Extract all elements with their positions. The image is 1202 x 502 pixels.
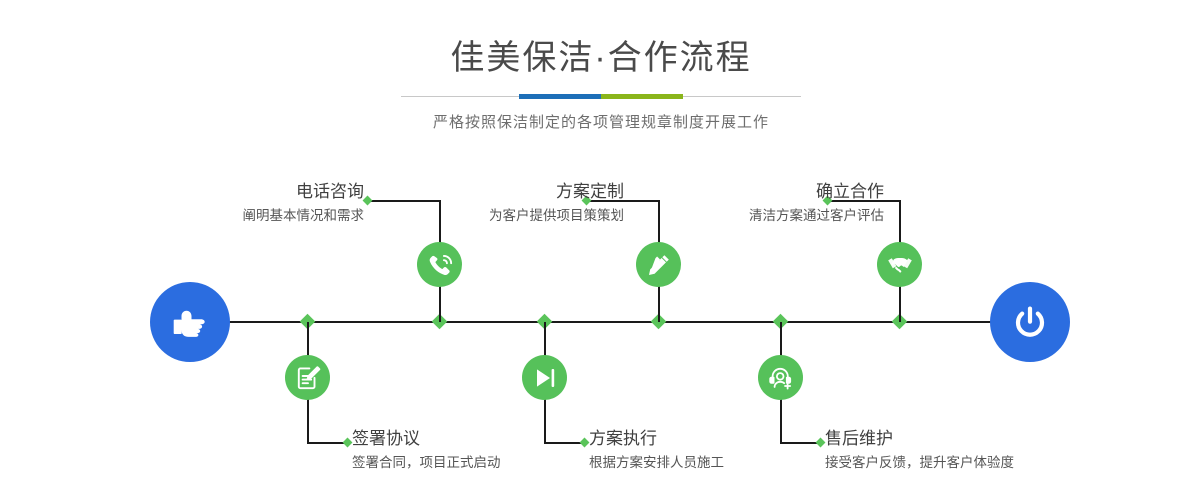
pencil-ruler-icon xyxy=(636,242,681,287)
phone-call-icon xyxy=(417,242,462,287)
flow-step-3-label: 方案定制 为客户提供项目策策划 xyxy=(489,182,624,225)
flow-step-4-title: 方案执行 xyxy=(589,429,724,449)
pointing-hand-icon xyxy=(167,299,213,345)
timeline-axis xyxy=(228,321,1003,323)
label-marker-4 xyxy=(580,438,590,448)
label-marker-1 xyxy=(363,196,373,206)
timeline-start-node xyxy=(150,282,230,362)
connector-horizontal-1 xyxy=(368,200,440,202)
timeline-end-node xyxy=(990,282,1070,362)
page-header: 佳美保洁·合作流程 严格按照保洁制定的各项管理规章制度开展工作 xyxy=(0,0,1202,132)
flow-step-5-desc: 清洁方案通过客户评估 xyxy=(749,206,884,225)
flow-step-2-desc: 签署合同，项目正式启动 xyxy=(352,453,501,472)
flow-step-3-title: 方案定制 xyxy=(489,182,624,202)
support-agent-add-icon xyxy=(758,355,803,400)
flow-step-1-label: 电话咨询 阐明基本情况和需求 xyxy=(243,182,365,225)
flow-step-5-title: 确立合作 xyxy=(749,182,884,202)
flow-step-2-title: 签署协议 xyxy=(352,429,501,449)
divider-blue-segment xyxy=(519,94,601,99)
flow-step-5-label: 确立合作 清洁方案通过客户评估 xyxy=(749,182,884,225)
label-marker-2 xyxy=(343,438,353,448)
handshake-icon xyxy=(877,242,922,287)
play-next-icon xyxy=(522,355,567,400)
power-button-icon xyxy=(1007,299,1053,345)
flow-step-6-title: 售后维护 xyxy=(825,429,1014,449)
flow-step-4-label: 方案执行 根据方案安排人员施工 xyxy=(589,429,724,472)
title-divider xyxy=(401,94,801,100)
flow-step-1-desc: 阐明基本情况和需求 xyxy=(243,206,365,225)
page-subtitle: 严格按照保洁制定的各项管理规章制度开展工作 xyxy=(0,111,1202,132)
flow-step-6-label: 售后维护 接受客户反馈，提升客户体验度 xyxy=(825,429,1014,472)
connector-horizontal-2 xyxy=(307,442,347,444)
flow-step-4-desc: 根据方案安排人员施工 xyxy=(589,453,724,472)
page-title: 佳美保洁·合作流程 xyxy=(0,36,1202,80)
connector-horizontal-6 xyxy=(780,442,820,444)
flow-step-2-label: 签署协议 签署合同，项目正式启动 xyxy=(352,429,501,472)
connector-horizontal-4 xyxy=(544,442,584,444)
divider-green-segment xyxy=(601,94,683,99)
label-marker-6 xyxy=(816,438,826,448)
flow-step-1-title: 电话咨询 xyxy=(243,182,365,202)
flow-step-6-desc: 接受客户反馈，提升客户体验度 xyxy=(825,453,1014,472)
flow-step-3-desc: 为客户提供项目策策划 xyxy=(489,206,624,225)
document-sign-icon xyxy=(285,355,330,400)
flow-diagram-page: 佳美保洁·合作流程 严格按照保洁制定的各项管理规章制度开展工作 xyxy=(0,0,1202,502)
